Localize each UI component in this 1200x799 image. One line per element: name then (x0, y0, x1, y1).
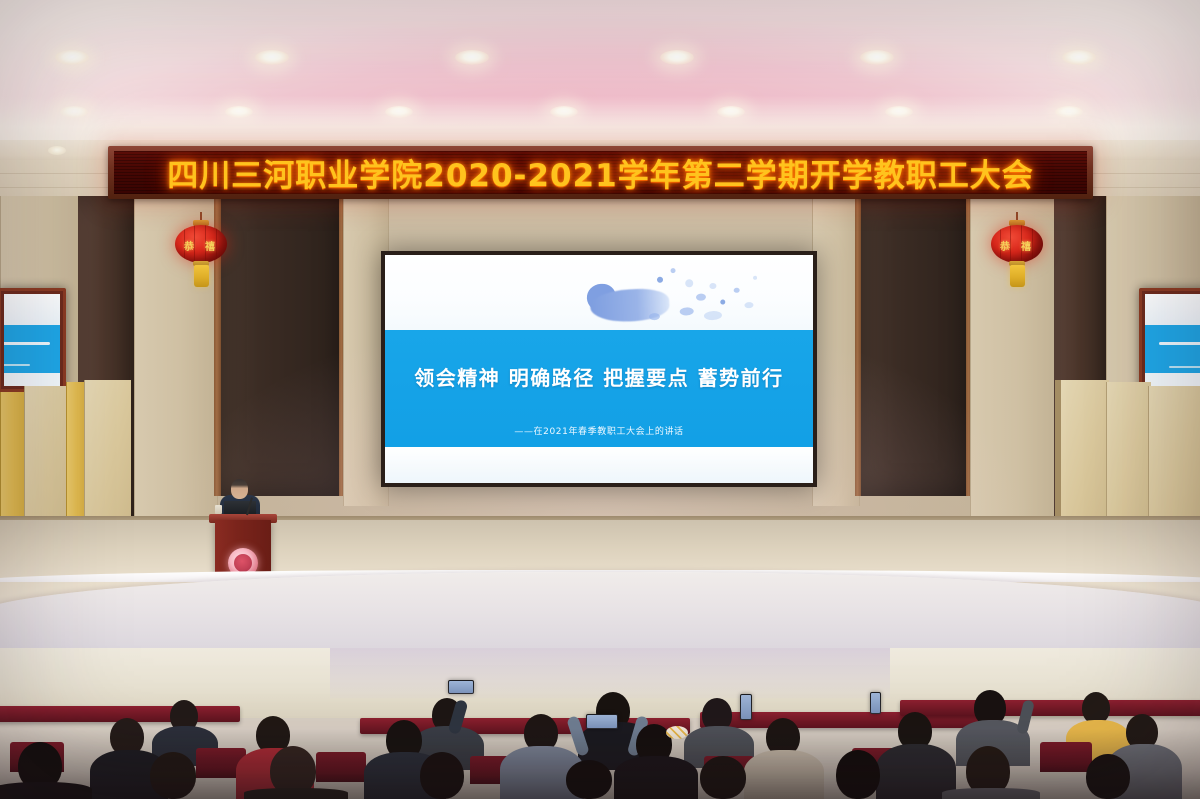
lantern-rib (194, 225, 195, 263)
lantern-tassel (194, 265, 209, 287)
lantern-character: 恭 (184, 238, 194, 253)
presentation-slide: 领会精神 明确路径 把握要点 蓄势前行 ——在2021年春季教职工大会上的讲话 (385, 255, 813, 483)
audience-phone (448, 680, 474, 694)
seat-back (1040, 742, 1092, 772)
ceiling-downlight-icon (1062, 50, 1096, 65)
phone-screen (871, 693, 880, 713)
phone-screen (449, 681, 473, 693)
lantern-rib (1032, 225, 1033, 263)
led-banner-screen: 四川三河职业学院2020-2021学年第二学期开学教职工大会 (114, 151, 1087, 194)
hair-bow (666, 726, 688, 739)
ceiling-downlight-icon (55, 50, 89, 65)
splash-dot (671, 268, 676, 273)
auditorium-photo: 领会精神 明确路径 把握要点 蓄势前行 ——在2021年春季教职工大会上的讲话 … (0, 0, 1200, 799)
ceiling-downlight-icon (455, 50, 489, 65)
splash-dot (696, 294, 706, 302)
audience-head (700, 756, 746, 799)
phone-screen (741, 695, 751, 719)
splash-dot (649, 313, 660, 321)
projection-screen: 领会精神 明确路径 把握要点 蓄势前行 ——在2021年春季教职工大会上的讲话 (381, 251, 817, 487)
lantern-rib (1010, 225, 1011, 263)
splash-dot (734, 288, 740, 293)
splash-dot (704, 311, 722, 321)
lantern-body: 恭 禧 (991, 225, 1043, 263)
ceiling-downlight-icon (255, 50, 289, 65)
splash-dot (685, 280, 693, 288)
lantern-right: 恭 禧 (991, 212, 1043, 290)
slide-lower-area (385, 447, 813, 483)
lantern-tassel (1010, 265, 1025, 287)
soffit-light-icon (48, 146, 66, 155)
lantern-character: 禧 (1021, 238, 1031, 253)
splash-dot (754, 276, 758, 280)
slide-subtitle: ——在2021年春季教职工大会上的讲话 (385, 424, 813, 437)
side-monitor-right (1139, 288, 1200, 392)
audience-backdrop-tint (330, 648, 890, 698)
ceiling-downlight-icon (860, 50, 894, 65)
podium-cup (215, 505, 222, 514)
audience-phone (870, 692, 881, 714)
splash-dot (721, 300, 726, 305)
lantern-character: 恭 (1000, 238, 1010, 253)
lantern-body: 恭 禧 (175, 225, 227, 263)
speaker-head (231, 479, 248, 499)
monitor-slide-title-line (4, 342, 50, 345)
seat-row-back (900, 700, 1200, 716)
side-monitor-right-screen (1145, 294, 1200, 386)
splash-dot (658, 277, 664, 283)
led-banner-text: 四川三河职业学院2020-2021学年第二学期开学教职工大会 (167, 151, 1033, 194)
audience-shoulders (942, 788, 1040, 799)
ceiling-downlight-icon (660, 50, 694, 65)
monitor-slide-sub-line (4, 364, 30, 366)
monitor-slide-bottom (1145, 373, 1200, 386)
audience-head (150, 752, 196, 799)
folding-partition-left-4 (84, 380, 131, 538)
audience-shoulders (244, 788, 348, 799)
audience-head (836, 750, 880, 799)
side-monitor-left (0, 288, 66, 392)
emblem-inner-mark (234, 554, 252, 572)
swimmer-splash-icon (589, 260, 764, 337)
seat-back (316, 752, 366, 782)
side-monitor-left-screen (4, 294, 60, 386)
phone-screen (587, 715, 617, 728)
audience-shoulders (614, 756, 698, 799)
audience-shoulders (0, 782, 92, 799)
led-banner: 四川三河职业学院2020-2021学年第二学期开学教职工大会 (108, 146, 1093, 199)
audience-phone (586, 714, 618, 729)
audience-head (420, 752, 464, 799)
splash-dot (680, 307, 694, 316)
monitor-slide-bottom (4, 373, 60, 386)
splash-dot (745, 302, 754, 308)
audience-phone (740, 694, 752, 720)
monitor-slide-top (4, 294, 60, 325)
lantern-character: 禧 (205, 238, 215, 253)
monitor-slide-title-line (1159, 342, 1200, 345)
monitor-slide-sub-line (1169, 366, 1200, 368)
monitor-slide-band (4, 325, 60, 373)
monitor-slide-top (1145, 294, 1200, 325)
audience-head (566, 760, 612, 799)
audience-shoulders (744, 750, 824, 799)
slide-title: 领会精神 明确路径 把握要点 蓄势前行 (385, 362, 813, 391)
splash-dot (710, 282, 717, 288)
lantern-rib (216, 225, 217, 263)
lantern-left: 恭 禧 (175, 212, 227, 290)
audience-head (1086, 754, 1130, 799)
